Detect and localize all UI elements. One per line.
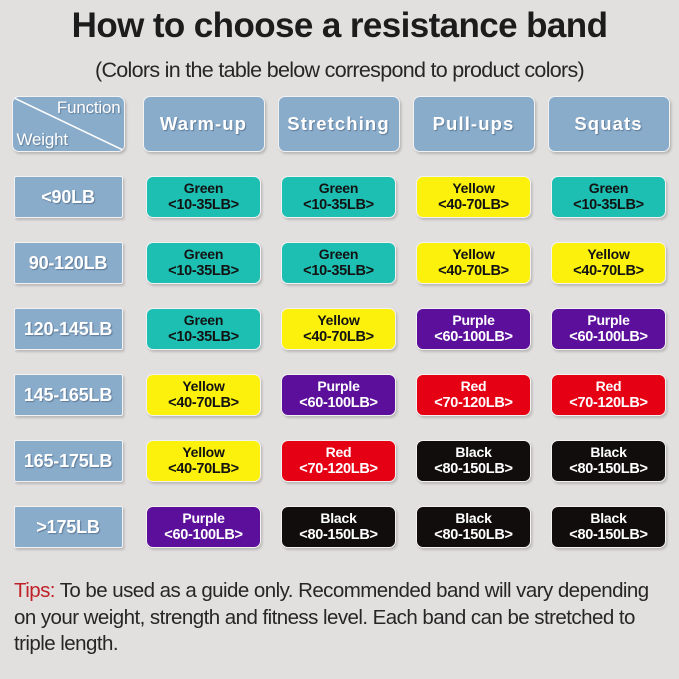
band-cell-yellow: Yellow<40-70LB> [551, 242, 666, 284]
band-color-name: Black [455, 445, 491, 461]
row-spacer [0, 416, 679, 440]
band-color-name: Black [455, 511, 491, 527]
row-spacer [0, 152, 679, 176]
band-resistance-range: <80-150LB> [434, 461, 512, 477]
band-color-name: Yellow [452, 181, 494, 197]
page-title: How to choose a resistance band [0, 6, 679, 46]
band-color-name: Black [320, 511, 356, 527]
weight-range-label: 90-120LB [14, 242, 123, 284]
band-cell-yellow: Yellow<40-70LB> [416, 176, 531, 218]
band-resistance-range: <40-70LB> [168, 461, 239, 477]
band-resistance-range: <80-150LB> [569, 461, 647, 477]
band-resistance-range: <60-100LB> [569, 329, 647, 345]
column-header-stretching: Stretching [278, 96, 400, 152]
band-cell-purple: Purple<60-100LB> [416, 308, 531, 350]
band-color-name: Yellow [452, 247, 494, 263]
band-color-name: Green [319, 247, 358, 263]
band-color-name: Green [184, 247, 223, 263]
row-spacer [0, 284, 679, 308]
band-resistance-range: <10-35LB> [168, 329, 239, 345]
band-color-name: Black [590, 511, 626, 527]
band-cell-black: Black<80-150LB> [551, 440, 666, 482]
band-cell-purple: Purple<60-100LB> [146, 506, 261, 548]
band-cell-red: Red<70-120LB> [551, 374, 666, 416]
band-resistance-range: <10-35LB> [168, 197, 239, 213]
weight-range-label: 145-165LB [14, 374, 123, 416]
row-spacer [0, 482, 679, 506]
band-resistance-range: <80-150LB> [299, 527, 377, 543]
table-row: 165-175LBYellow<40-70LB>Red<70-120LB>Bla… [0, 440, 679, 482]
row-spacer [0, 218, 679, 242]
band-cell-green: Green<10-35LB> [146, 176, 261, 218]
band-resistance-range: <10-35LB> [303, 197, 374, 213]
band-cell-purple: Purple<60-100LB> [281, 374, 396, 416]
band-resistance-range: <60-100LB> [434, 329, 512, 345]
table-body: <90LBGreen<10-35LB>Green<10-35LB>Yellow<… [0, 152, 679, 548]
band-color-name: Green [184, 181, 223, 197]
band-resistance-range: <40-70LB> [438, 263, 509, 279]
resistance-band-chart: How to choose a resistance band (Colors … [0, 0, 679, 679]
band-resistance-range: <10-35LB> [303, 263, 374, 279]
band-color-name: Green [589, 181, 628, 197]
band-resistance-range: <40-70LB> [438, 197, 509, 213]
band-color-name: Green [184, 313, 223, 329]
band-color-name: Green [319, 181, 358, 197]
weight-range-label: 120-145LB [14, 308, 123, 350]
band-resistance-range: <40-70LB> [303, 329, 374, 345]
band-color-name: Red [596, 379, 622, 395]
band-cell-green: Green<10-35LB> [281, 242, 396, 284]
band-color-name: Yellow [182, 379, 224, 395]
selection-table: Function Weight Warm-up Stretching Pull-… [0, 96, 679, 548]
table-row: 90-120LBGreen<10-35LB>Green<10-35LB>Yell… [0, 242, 679, 284]
band-cell-purple: Purple<60-100LB> [551, 308, 666, 350]
band-resistance-range: <70-120LB> [569, 395, 647, 411]
band-resistance-range: <40-70LB> [573, 263, 644, 279]
band-cell-yellow: Yellow<40-70LB> [281, 308, 396, 350]
band-cell-green: Green<10-35LB> [146, 242, 261, 284]
band-cell-green: Green<10-35LB> [281, 176, 396, 218]
column-header-squats: Squats [548, 96, 670, 152]
band-color-name: Yellow [587, 247, 629, 263]
corner-function-label: Function [57, 98, 121, 118]
table-header-row: Function Weight Warm-up Stretching Pull-… [0, 96, 679, 152]
band-cell-black: Black<80-150LB> [281, 506, 396, 548]
band-color-name: Red [326, 445, 352, 461]
band-resistance-range: <80-150LB> [434, 527, 512, 543]
table-row: 120-145LBGreen<10-35LB>Yellow<40-70LB>Pu… [0, 308, 679, 350]
band-color-name: Purple [317, 379, 359, 395]
tips-note: Tips: To be used as a guide only. Recomm… [14, 578, 674, 658]
band-resistance-range: <70-120LB> [434, 395, 512, 411]
band-cell-black: Black<80-150LB> [551, 506, 666, 548]
band-resistance-range: <80-150LB> [569, 527, 647, 543]
band-cell-yellow: Yellow<40-70LB> [146, 440, 261, 482]
band-cell-green: Green<10-35LB> [146, 308, 261, 350]
table-row: 145-165LBYellow<40-70LB>Purple<60-100LB>… [0, 374, 679, 416]
column-header-pull-ups: Pull-ups [413, 96, 535, 152]
table-row: >175LBPurple<60-100LB>Black<80-150LB>Bla… [0, 506, 679, 548]
band-color-name: Purple [452, 313, 494, 329]
corner-header-cell: Function Weight [12, 96, 125, 152]
row-spacer [0, 350, 679, 374]
band-resistance-range: <10-35LB> [168, 263, 239, 279]
band-resistance-range: <10-35LB> [573, 197, 644, 213]
weight-range-label: 165-175LB [14, 440, 123, 482]
band-resistance-range: <70-120LB> [299, 461, 377, 477]
band-color-name: Purple [182, 511, 224, 527]
band-cell-black: Black<80-150LB> [416, 506, 531, 548]
band-cell-yellow: Yellow<40-70LB> [416, 242, 531, 284]
page-subtitle: (Colors in the table below correspond to… [0, 58, 679, 83]
band-cell-black: Black<80-150LB> [416, 440, 531, 482]
band-cell-red: Red<70-120LB> [416, 374, 531, 416]
band-cell-yellow: Yellow<40-70LB> [146, 374, 261, 416]
band-resistance-range: <40-70LB> [168, 395, 239, 411]
weight-range-label: >175LB [14, 506, 123, 548]
tips-label: Tips: [14, 579, 55, 602]
table-row: <90LBGreen<10-35LB>Green<10-35LB>Yellow<… [0, 176, 679, 218]
tips-text: To be used as a guide only. Recommended … [14, 579, 649, 655]
band-cell-green: Green<10-35LB> [551, 176, 666, 218]
band-color-name: Purple [587, 313, 629, 329]
band-color-name: Black [590, 445, 626, 461]
band-color-name: Red [461, 379, 487, 395]
band-resistance-range: <60-100LB> [164, 527, 242, 543]
band-cell-red: Red<70-120LB> [281, 440, 396, 482]
band-color-name: Yellow [317, 313, 359, 329]
column-header-warm-up: Warm-up [143, 96, 265, 152]
weight-range-label: <90LB [14, 176, 123, 218]
band-color-name: Yellow [182, 445, 224, 461]
corner-weight-label: Weight [17, 130, 68, 150]
band-resistance-range: <60-100LB> [299, 395, 377, 411]
